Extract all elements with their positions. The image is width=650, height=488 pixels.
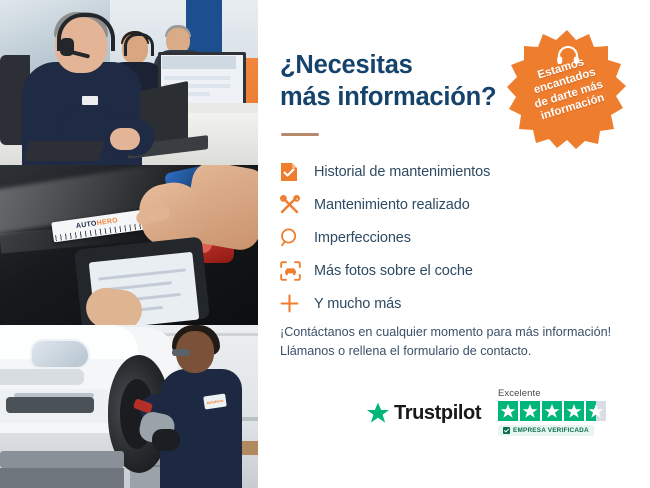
call-center-agent-photo [0, 0, 258, 165]
feature-item-historial: Historial de mantenimientos [280, 155, 550, 188]
feature-label: Historial de mantenimientos [314, 164, 490, 180]
clipboard-check-icon [280, 162, 314, 182]
page-title-line-1: ¿Necesitas [280, 51, 413, 79]
mechanic-wheel-photo: autohero [0, 325, 258, 488]
star-filled [564, 401, 584, 421]
photo-column: AUTOHERO autohero [0, 0, 258, 488]
page-title: ¿Necesitas más información? [280, 50, 520, 113]
star-filled [498, 401, 518, 421]
feature-label: Mantenimiento realizado [314, 197, 470, 213]
tools-wrench-screwdriver-icon [280, 195, 314, 215]
content-panel: ¿Necesitas más información? Estamos enca… [258, 0, 650, 488]
plus-icon [280, 294, 314, 313]
title-divider [281, 133, 319, 136]
trustpilot-brand-name: Trustpilot [394, 402, 481, 425]
trustpilot-logo[interactable]: Trustpilot [366, 402, 481, 425]
support-badge: Estamos encantados de darte más informac… [506, 28, 628, 150]
check-square-icon [503, 427, 510, 434]
feature-label: Imperfecciones [314, 230, 411, 246]
feature-list: Historial de mantenimientos Mantenimient… [280, 155, 550, 320]
feature-item-mantenimiento: Mantenimiento realizado [280, 188, 550, 221]
trustpilot-rating-label: Excelente [498, 388, 610, 399]
star-half [586, 401, 606, 421]
feature-label: Y mucho más [314, 296, 401, 312]
paragraph-line-1: ¡Contáctanos en cualquier momento para m… [280, 323, 640, 342]
magnifier-icon [280, 228, 314, 247]
car-inspection-ruler-photo: AUTOHERO [0, 165, 258, 325]
paragraph-line-2: Llámanos o rellena el formulario de cont… [280, 342, 640, 361]
promo-card: AUTOHERO autohero [0, 0, 650, 488]
contact-paragraph: ¡Contáctanos en cualquier momento para m… [280, 323, 640, 361]
feature-item-mas: Y mucho más [280, 287, 550, 320]
feature-item-imperfecciones: Imperfecciones [280, 221, 550, 254]
feature-label: Más fotos sobre el coche [314, 263, 473, 279]
verified-label: EMPRESA VERIFICADA [513, 427, 589, 434]
trustpilot-star-icon [366, 402, 390, 425]
star-filled [520, 401, 540, 421]
verified-business-badge: EMPRESA VERIFICADA [498, 425, 594, 436]
star-filled [542, 401, 562, 421]
trustpilot-stars [498, 401, 610, 421]
car-photo-frame-icon [280, 261, 314, 281]
feature-item-fotos: Más fotos sobre el coche [280, 254, 550, 287]
trustpilot-widget[interactable]: Trustpilot Excelente EMPRESA VERIFICA [366, 388, 650, 448]
trustpilot-rating: Excelente EMPRESA VERIFICADA [498, 388, 610, 439]
page-title-line-2: más información? [280, 82, 520, 114]
